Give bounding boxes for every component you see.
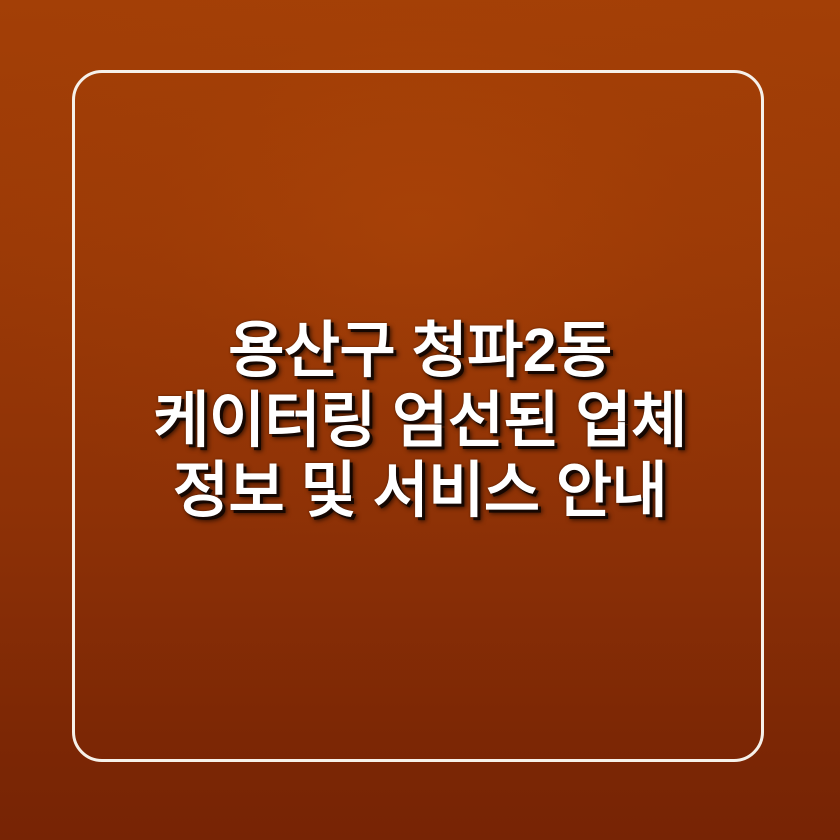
title-block: 용산구 청파2동 케이터링 엄선된 업체 정보 및 서비스 안내	[0, 315, 840, 525]
promo-card: 용산구 청파2동 케이터링 엄선된 업체 정보 및 서비스 안내	[0, 0, 840, 840]
title-line-1: 용산구 청파2동	[80, 315, 760, 385]
title-line-3: 정보 및 서비스 안내	[80, 455, 760, 525]
title-line-2: 케이터링 엄선된 업체	[80, 385, 760, 455]
